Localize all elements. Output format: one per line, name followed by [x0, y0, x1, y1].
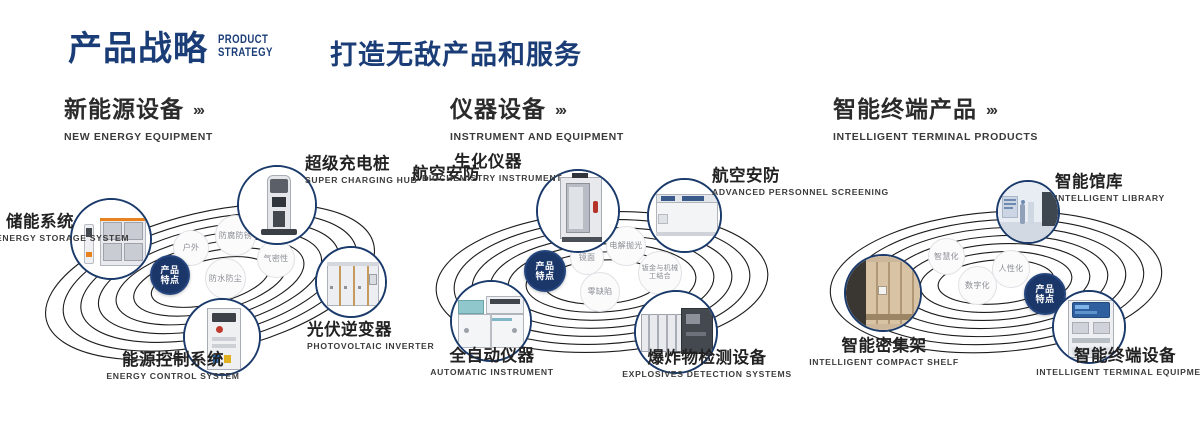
- charging-pile-art: [239, 167, 315, 243]
- feature-bubble: 数字化: [958, 266, 997, 305]
- section-title-en-0: NEW ENERGY EQUIPMENT: [64, 131, 213, 143]
- cluster-instrument: 镜面 电解抛光 零缺陷 钣金与机械工结合 产品特点 航空安防 生化仪器 BIOC…: [402, 150, 802, 422]
- page-title-en: PRODUCT STRATEGY: [218, 33, 273, 59]
- section-heading-instrument: 仪器设备››› INSTRUMENT AND EQUIPMENT: [450, 95, 624, 143]
- product-features-badge: 产品特点: [150, 255, 190, 295]
- section-heading-new-energy: 新能源设备››› NEW ENERGY EQUIPMENT: [64, 95, 213, 143]
- page-slogan: 打造无敌产品和服务: [330, 33, 582, 72]
- cluster-new-energy: 户外 防腐防锈 防水防尘 气密性 产品特点 储能系统 ENERGY STORAG…: [10, 150, 410, 422]
- feature-bubble: 零缺陷: [580, 272, 620, 312]
- inverter-cabinet-art: [317, 248, 385, 316]
- product-label-energy-control-system: 能源控制系统 ENERGY CONTROL SYSTEM: [78, 350, 268, 382]
- product-label-storage-system: 储能系统 ENERGY STORAGE SYSTEM: [0, 212, 74, 244]
- product-label-intelligent-terminal-equipment: 智能终端设备 INTELLIGENT TERMINAL EQUIPMENT: [1032, 346, 1200, 378]
- feature-bubble: 气密性: [257, 240, 295, 278]
- product-circle-intelligent-compact-shelf[interactable]: [844, 254, 922, 332]
- badge-label: 产品特点: [535, 261, 554, 282]
- product-circle-photovoltaic-inverter[interactable]: [315, 246, 387, 318]
- feature-bubble: 钣金与机械工结合: [638, 251, 682, 295]
- product-features-badge: 产品特点: [524, 250, 566, 292]
- section-title-cn-2: 智能终端产品›››: [833, 95, 1038, 127]
- section-heading-intelligent-terminal: 智能终端产品››› INTELLIGENT TERMINAL PRODUCTS: [833, 95, 1038, 143]
- library-hall-art: [998, 182, 1058, 242]
- chevron-right-icon: ›››: [193, 97, 203, 125]
- feature-bubble: 智慧化: [928, 238, 965, 275]
- security-gate-art: [538, 171, 618, 251]
- feature-bubble: 人性化: [992, 250, 1030, 288]
- compact-shelf-art: [846, 256, 920, 330]
- product-label-explosives-detection: 爆炸物检测设备 EXPLOSIVES DETECTION SYSTEMS: [617, 348, 797, 380]
- section-title-cn-0: 新能源设备›››: [64, 95, 213, 127]
- product-circle-intelligent-library[interactable]: [996, 180, 1060, 244]
- product-label-automatic-instrument: 全自动仪器 AUTOMATIC INSTRUMENT: [402, 346, 582, 378]
- section-title-en-1: INSTRUMENT AND EQUIPMENT: [450, 131, 624, 143]
- chevron-right-icon: ›››: [555, 97, 565, 125]
- page-title-en-line2: STRATEGY: [218, 46, 273, 59]
- page-title-cn: 产品战略: [68, 28, 208, 70]
- product-circle-advanced-personnel-screening[interactable]: [647, 178, 722, 253]
- chevron-right-icon: ›››: [986, 97, 996, 125]
- page-header: 产品战略 PRODUCT STRATEGY 打造无敌产品和服务: [0, 0, 1200, 88]
- section-title-en-2: INTELLIGENT TERMINAL PRODUCTS: [833, 131, 1038, 143]
- feature-bubble: 防水防尘: [205, 258, 246, 299]
- product-label-intelligent-library: 智能馆库 INTELLIGENT LIBRARY: [1055, 172, 1185, 204]
- badge-label: 产品特点: [1035, 284, 1054, 305]
- badge-label: 产品特点: [160, 265, 179, 286]
- product-label-biochemistry-instrument: 生化仪器 BIOCHEMISTRY INSTRUMENT: [422, 152, 522, 184]
- screening-machine-art: [649, 180, 720, 251]
- product-label-intelligent-compact-shelf: 智能密集架 INTELLIGENT COMPACT SHELF: [794, 336, 974, 368]
- section-title-cn-1: 仪器设备›››: [450, 95, 624, 127]
- cluster-intelligent-terminal: 智慧化 数字化 人性化 产品特点 智能馆库 INTELLIGENT LIBRAR…: [800, 150, 1200, 422]
